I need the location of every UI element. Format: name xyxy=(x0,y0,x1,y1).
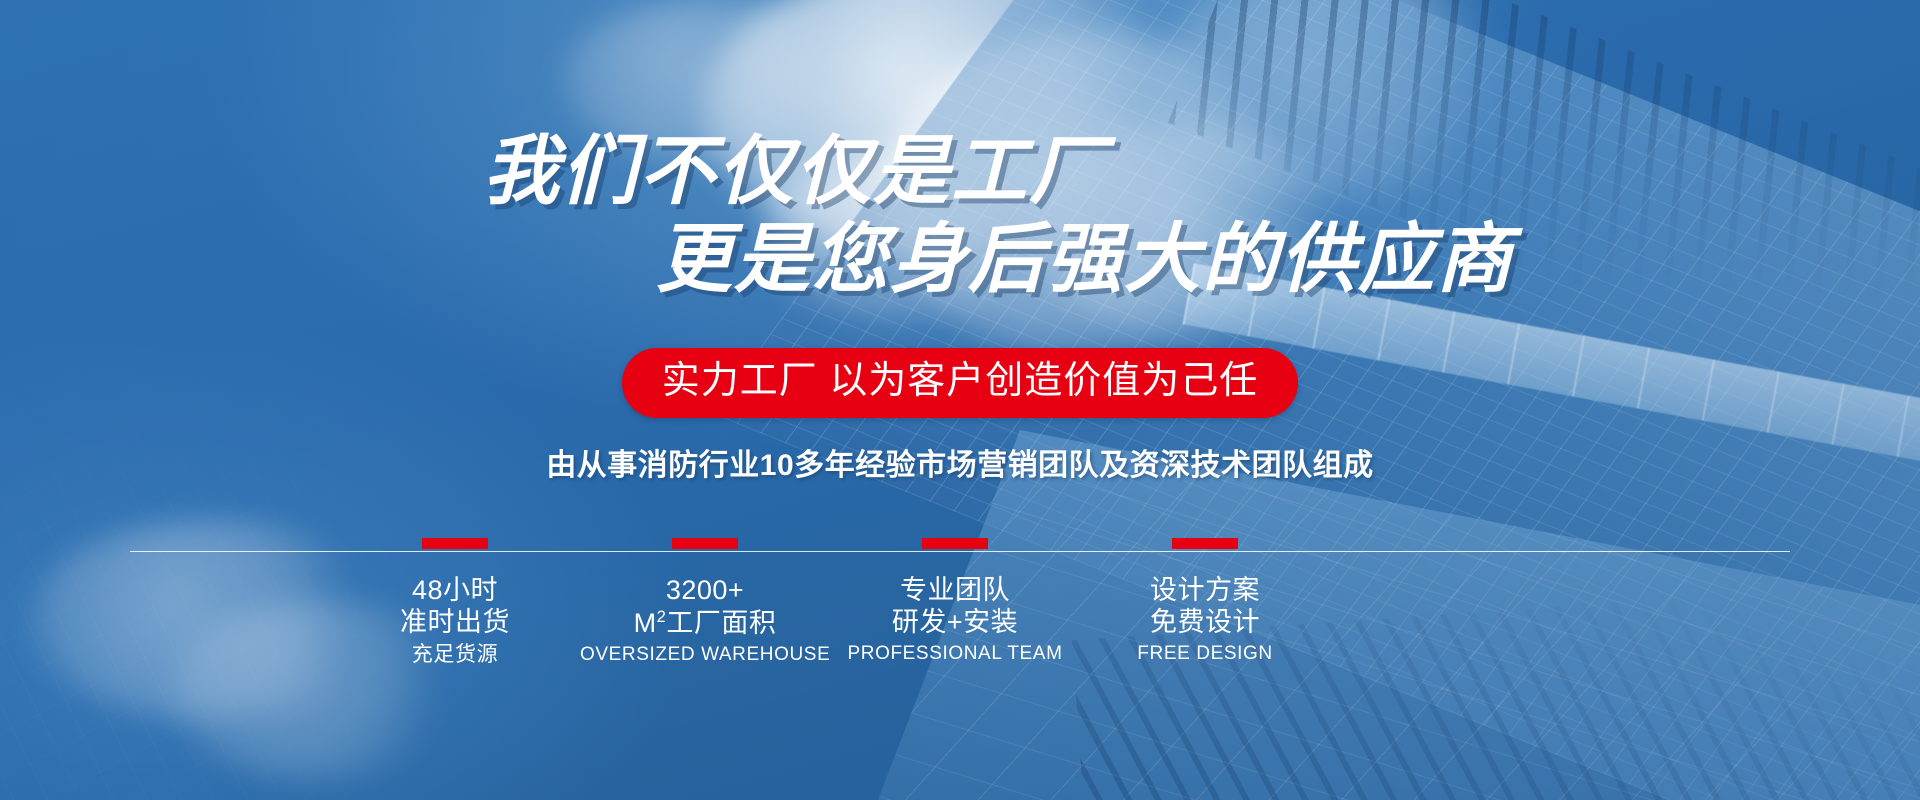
feature-line-1: 设计方案 xyxy=(1080,575,1330,607)
red-bar-marker xyxy=(672,538,738,549)
feature-line-3: OVERSIZED WAREHOUSE xyxy=(580,640,830,669)
area-unit-prefix: M xyxy=(634,608,657,638)
feature-line-2: 研发+安装 xyxy=(830,607,1080,639)
feature-line-1: 专业团队 xyxy=(830,575,1080,607)
feature-list: 48小时 准时出货 充足货源 3200+ M2工厂面积 OVERSIZED WA… xyxy=(330,538,1330,671)
headline-line-1: 我们不仅仅是工厂 xyxy=(0,128,1920,216)
feature-line-3: FREE DESIGN xyxy=(1080,639,1330,668)
feature-line-2: 免费设计 xyxy=(1080,607,1330,639)
red-bar-marker xyxy=(922,538,988,549)
feature-line-1: 3200+ xyxy=(580,575,830,607)
promo-banner: 我们不仅仅是工厂 更是您身后强大的供应商 实力工厂 以为客户创造价值为己任 由从… xyxy=(0,0,1920,800)
subtitle: 由从事消防行业10多年经验市场营销团队及资深技术团队组成 xyxy=(0,440,1920,484)
feature-line-2: 准时出货 xyxy=(330,607,580,639)
headline-line-2: 更是您身后强大的供应商 xyxy=(0,216,1920,304)
red-bar-marker xyxy=(1172,538,1238,549)
area-unit-suffix: 工厂面积 xyxy=(666,608,776,638)
feature-line-1: 48小时 xyxy=(330,575,580,607)
feature-line-3: PROFESSIONAL TEAM xyxy=(830,639,1080,668)
red-bar-marker xyxy=(422,538,488,549)
headline: 我们不仅仅是工厂 更是您身后强大的供应商 xyxy=(0,128,1920,304)
feature-item-shipping: 48小时 准时出货 充足货源 xyxy=(330,538,580,671)
slogan-badge: 实力工厂 以为客户创造价值为己任 xyxy=(622,348,1299,418)
feature-line-2: M2工厂面积 xyxy=(580,607,830,640)
feature-item-team: 专业团队 研发+安装 PROFESSIONAL TEAM xyxy=(830,538,1080,671)
feature-item-warehouse: 3200+ M2工厂面积 OVERSIZED WAREHOUSE xyxy=(580,538,830,671)
feature-line-3: 充足货源 xyxy=(330,639,580,672)
feature-item-design: 设计方案 免费设计 FREE DESIGN xyxy=(1080,538,1330,671)
area-unit-superscript: 2 xyxy=(657,607,667,626)
badge-container: 实力工厂 以为客户创造价值为己任 xyxy=(0,348,1920,418)
